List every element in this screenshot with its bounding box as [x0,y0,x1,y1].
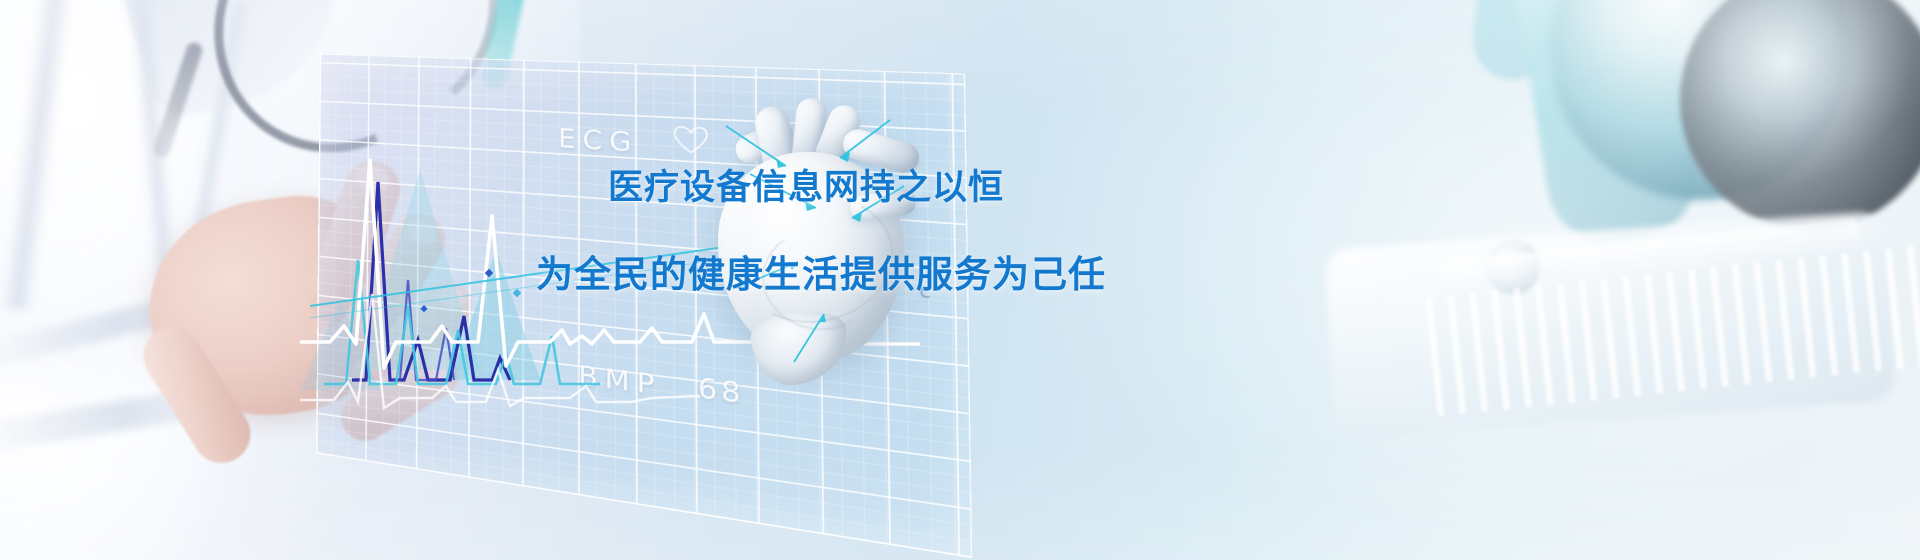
coat-fold [0,0,74,311]
ecg-label: ECG [558,123,638,159]
headline-block: 医疗设备信息网持之以恒 为全民的健康生活提供服务为己任 [608,168,1106,296]
headline-line-2: 为全民的健康生活提供服务为己任 [536,254,1106,296]
headline-line-1: 医疗设备信息网持之以恒 [608,168,1106,208]
medical-hero-banner: ECG BMP 68 s c [0,0,1920,560]
laboratory-microscope [1260,0,1920,500]
